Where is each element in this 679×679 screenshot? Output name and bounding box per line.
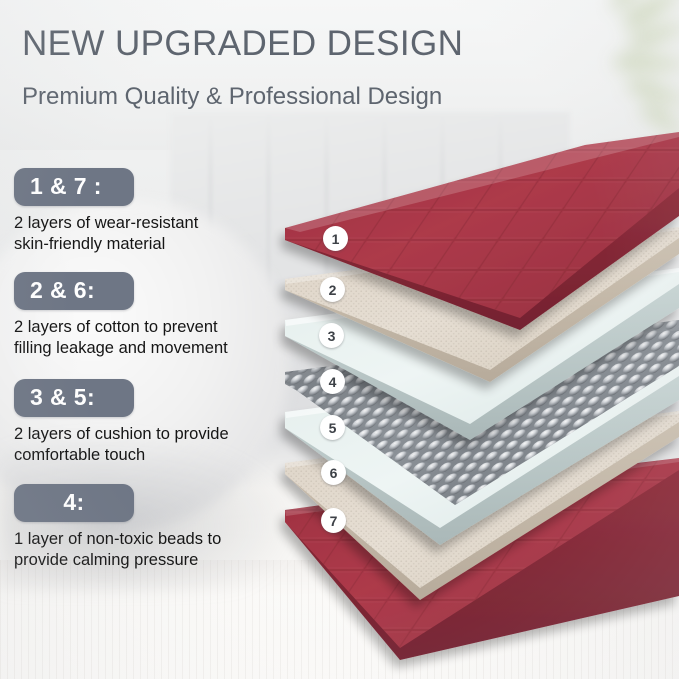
product-infographic: 1 2 3 4 5 6 7 NEW UPGRADED DESIGN Premiu… xyxy=(0,0,679,679)
layer-badge-7: 7 xyxy=(321,508,346,533)
callout-chip-2-6: 2 & 6: xyxy=(14,272,134,310)
callout-chip-1-7: 1 & 7 : xyxy=(14,168,134,206)
layer-badge-2: 2 xyxy=(320,277,345,302)
callout-chip-4: 4: xyxy=(14,484,134,522)
layer-badge-1: 1 xyxy=(323,226,348,251)
layer-badge-5: 5 xyxy=(320,415,345,440)
layer-badge-6: 6 xyxy=(321,460,346,485)
page-subtitle: Premium Quality & Professional Design xyxy=(22,83,442,111)
callout-description-4: 1 layer of non-toxic beads to provide ca… xyxy=(14,529,221,571)
layer-badge-3: 3 xyxy=(319,323,344,348)
callout-description-1-7: 2 layers of wear-resistant skin-friendly… xyxy=(14,213,198,255)
callout-description-2-6: 2 layers of cotton to prevent filling le… xyxy=(14,317,228,359)
callout-chip-3-5: 3 & 5: xyxy=(14,379,134,417)
callout-layers-1-and-7: 1 & 7 : 2 layers of wear-resistant skin-… xyxy=(14,168,198,255)
callout-layer-4: 4: 1 layer of non-toxic beads to provide… xyxy=(14,484,221,571)
callout-layers-3-and-5: 3 & 5: 2 layers of cushion to provide co… xyxy=(14,379,229,466)
plant-decoration-icon xyxy=(559,0,679,162)
layer-badge-4: 4 xyxy=(320,369,345,394)
page-title: NEW UPGRADED DESIGN xyxy=(22,24,463,64)
callout-layers-2-and-6: 2 & 6: 2 layers of cotton to prevent fil… xyxy=(14,272,228,359)
callout-description-3-5: 2 layers of cushion to provide comfortab… xyxy=(14,424,229,466)
